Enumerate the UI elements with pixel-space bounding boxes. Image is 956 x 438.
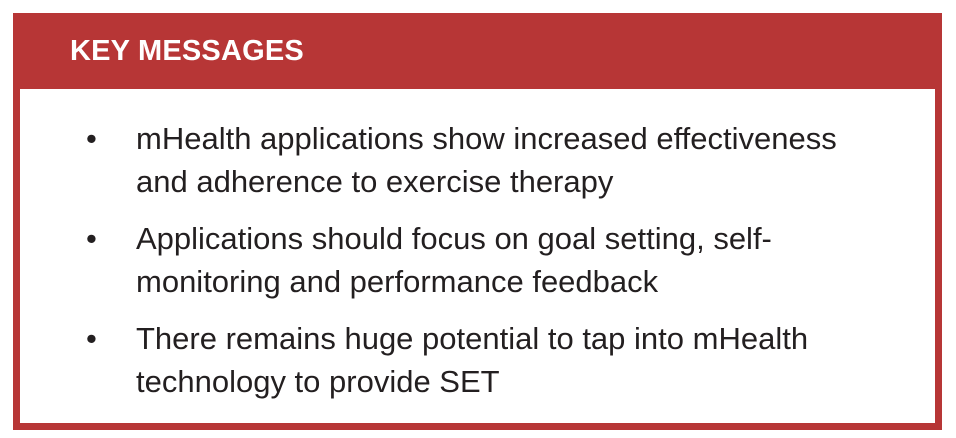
bullet-point-icon: •	[86, 217, 97, 260]
list-item-text: mHealth applications show increased effe…	[136, 117, 875, 203]
list-item: • mHealth applications show increased ef…	[20, 117, 935, 203]
page-title: KEY MESSAGES	[70, 37, 304, 66]
key-messages-body: • mHealth applications show increased ef…	[20, 89, 935, 423]
list-item-text: There remains huge potential to tap into…	[136, 317, 875, 403]
key-messages-callout: KEY MESSAGES • mHealth applications show…	[13, 13, 942, 430]
list-item-text: Applications should focus on goal settin…	[136, 217, 875, 303]
key-messages-header-bar: KEY MESSAGES	[13, 13, 942, 89]
bullet-point-icon: •	[86, 317, 97, 360]
list-item: • There remains huge potential to tap in…	[20, 317, 935, 403]
key-messages-bullet-list: • mHealth applications show increased ef…	[20, 117, 935, 403]
list-item: • Applications should focus on goal sett…	[20, 217, 935, 303]
bullet-point-icon: •	[86, 117, 97, 160]
